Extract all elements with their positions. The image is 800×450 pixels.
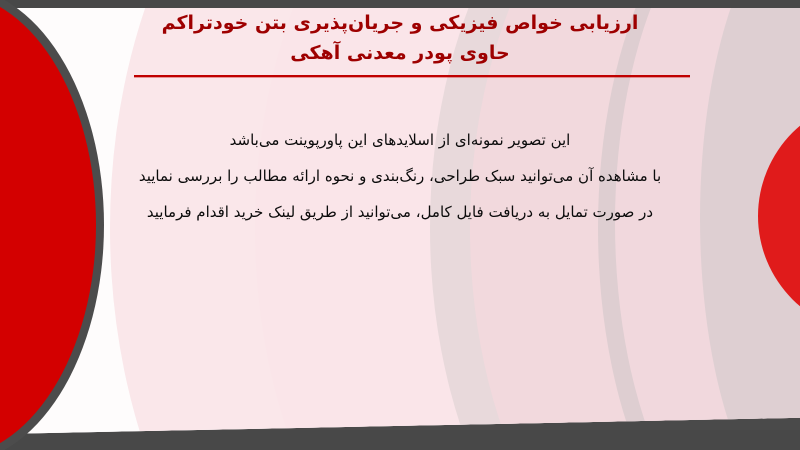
presentation-slide: ارزیابی خواص فیزیکی و جریان‌پذیری بتن خو… — [0, 0, 800, 450]
slide-body-text: این تصویر نمونه‌ای از اسلایدهای این پاور… — [0, 122, 800, 230]
slide-title-line-2: حاوی پودر معدنی آهکی — [0, 38, 800, 68]
slide-body-line-2: با مشاهده آن می‌توانید سبک طراحی، رنگ‌بن… — [36, 158, 764, 194]
title-underline-rule — [134, 75, 690, 77]
slide-body-line-1: این تصویر نمونه‌ای از اسلایدهای این پاور… — [36, 122, 764, 158]
slide-title: ارزیابی خواص فیزیکی و جریان‌پذیری بتن خو… — [0, 8, 800, 68]
slide-title-line-1: ارزیابی خواص فیزیکی و جریان‌پذیری بتن خو… — [0, 8, 800, 38]
slide-content-layer: ارزیابی خواص فیزیکی و جریان‌پذیری بتن خو… — [0, 0, 800, 450]
slide-body-line-3: در صورت تمایل به دریافت فایل کامل، می‌تو… — [36, 194, 764, 230]
